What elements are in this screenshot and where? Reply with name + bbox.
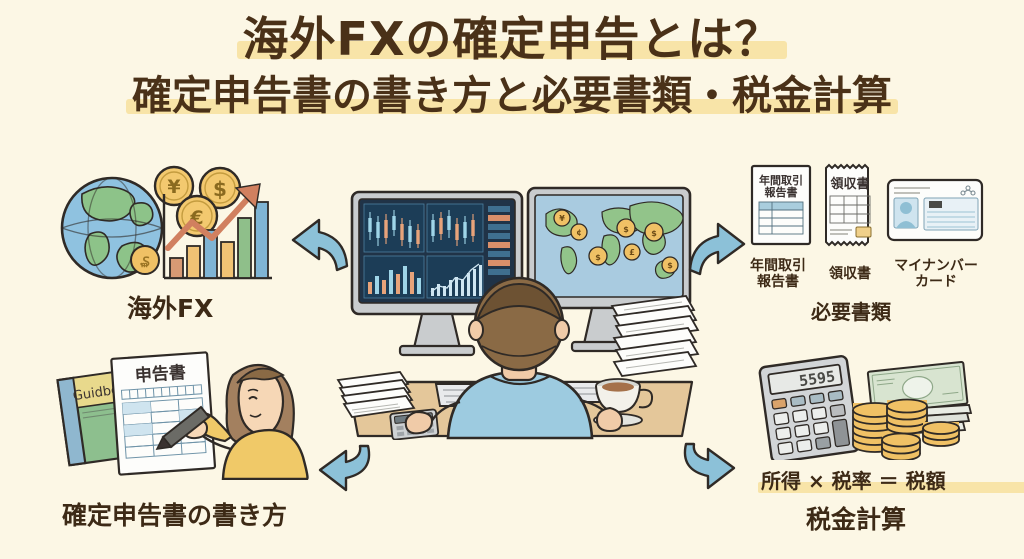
svg-text:年間取引: 年間取引 xyxy=(759,173,803,187)
arrow-to-bottom-right xyxy=(676,440,756,492)
arrow-to-bottom-left xyxy=(298,442,378,494)
required-documents-illustration: 年間取引 報告書 領収書 xyxy=(748,162,988,257)
center-scene: ¥ ¢ $ $ £ $ $ xyxy=(330,170,710,440)
svg-text:$: $ xyxy=(667,261,673,270)
label-how-to-write: 確定申告書の書き方 xyxy=(62,496,287,532)
label-tax-calculation: 税金計算 xyxy=(806,500,906,536)
tax-formula: 所得 × 税率 ＝ 税額 xyxy=(761,465,1024,494)
doc-caption-annual-report-line1: 年間取引 xyxy=(750,258,806,274)
svg-text:₷: ₷ xyxy=(140,255,150,270)
my-number-card-icon xyxy=(888,180,982,240)
title-line-1: 海外FXの確定申告とは？ xyxy=(243,16,782,62)
svg-text:¢: ¢ xyxy=(576,228,582,237)
doc-caption-receipt-line1: 領収書 xyxy=(829,266,871,282)
doc-caption-my-number-card-line1: マイナンバー xyxy=(894,258,978,274)
svg-text:¥: ¥ xyxy=(559,214,565,223)
arrow-to-top-right xyxy=(684,216,754,278)
svg-text:申告書: 申告書 xyxy=(134,362,186,387)
svg-text:$: $ xyxy=(651,229,657,238)
title-line-2: 確定申告書の書き方と必要書類・税金計算 xyxy=(132,76,892,116)
globe-icon: ₷ xyxy=(62,178,162,278)
annual-trade-report-icon: 年間取引 報告書 xyxy=(752,166,810,244)
svg-text:£: £ xyxy=(629,248,635,257)
svg-text:$: $ xyxy=(213,177,227,201)
title-line-1-text: 海外FXの確定申告とは？ xyxy=(243,12,782,66)
overseas-fx-illustration: ₷ ¥ $ € xyxy=(60,160,280,295)
tax-calculation-illustration: 5595 xyxy=(755,355,975,460)
svg-text:領収書: 領収書 xyxy=(830,176,869,192)
how-to-write-illustration: Guidbook 申告書 xyxy=(45,345,315,480)
page-title: 海外FXの確定申告とは？ 確定申告書の書き方と必要書類・税金計算 xyxy=(0,16,1024,116)
svg-text:$: $ xyxy=(595,253,601,262)
doc-caption-my-number-card: マイナンバー カード xyxy=(884,258,988,290)
label-required-documents: 必要書類 xyxy=(811,296,891,325)
tax-formula-text: 所得 × 税率 ＝ 税額 xyxy=(761,469,946,493)
arrow-to-top-left xyxy=(285,212,355,274)
svg-text:報告書: 報告書 xyxy=(765,185,798,199)
doc-caption-annual-report: 年間取引 報告書 xyxy=(748,258,808,290)
title-line-2-text: 確定申告書の書き方と必要書類・税金計算 xyxy=(132,73,892,119)
calculator-icon: 5595 xyxy=(759,355,860,460)
svg-text:¥: ¥ xyxy=(167,176,180,198)
doc-caption-my-number-card-line2: カード xyxy=(915,274,957,290)
label-overseas-fx: 海外FX xyxy=(127,289,213,325)
infographic-canvas: 海外FXの確定申告とは？ 確定申告書の書き方と必要書類・税金計算 xyxy=(0,0,1024,559)
doc-caption-receipt: 領収書 xyxy=(822,266,878,282)
receipt-icon: 領収書 xyxy=(826,165,871,245)
svg-text:$: $ xyxy=(623,225,629,234)
doc-caption-annual-report-line2: 報告書 xyxy=(757,274,799,290)
